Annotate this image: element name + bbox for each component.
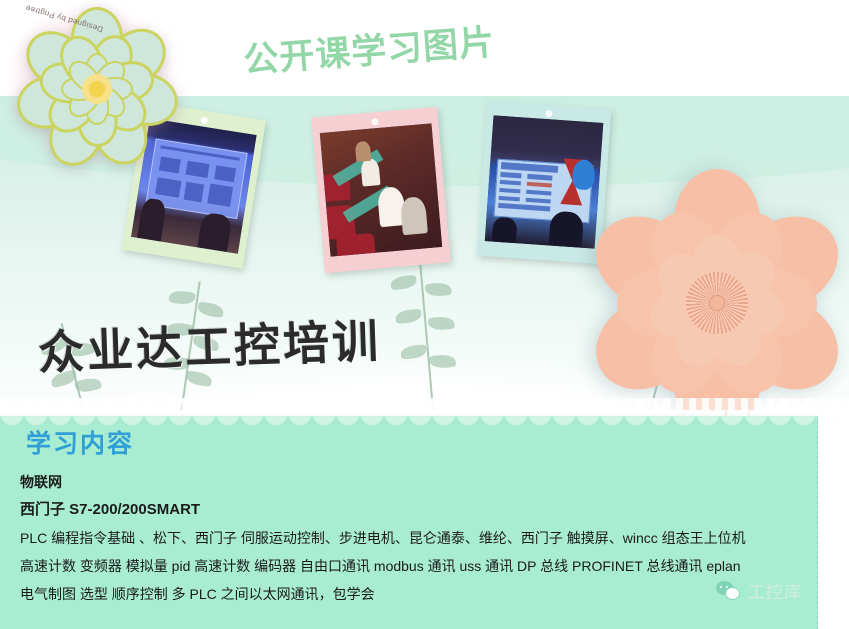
content-line: 西门子 S7-200/200SMART bbox=[20, 496, 810, 524]
content-line: 电气制图 选型 顺序控制 多 PLC 之间以太网通讯，包学会 bbox=[20, 580, 810, 608]
photo-pin-dot bbox=[371, 118, 379, 126]
wechat-account-badge[interactable]: 工控库 bbox=[716, 578, 802, 603]
flower-center-icon bbox=[686, 272, 748, 334]
content-line: 物联网 bbox=[20, 468, 810, 496]
content-line-list: 物联网 西门子 S7-200/200SMART PLC 编程指令基础 、松下、西… bbox=[20, 468, 810, 608]
wechat-icon bbox=[716, 581, 742, 601]
wechat-account-label: 工控库 bbox=[748, 578, 802, 603]
decorative-flower-peach bbox=[592, 178, 842, 428]
content-line: 高速计数 变频器 模拟量 pid 高速计数 编码器 自由口通讯 modbus 通… bbox=[20, 552, 810, 580]
photo-pin-dot bbox=[200, 116, 208, 124]
flower-center-icon bbox=[82, 74, 112, 104]
photo-auditorium-students[interactable] bbox=[311, 107, 450, 273]
section-title-learning-content: 学习内容 bbox=[26, 424, 134, 460]
content-line: PLC 编程指令基础 、松下、西门子 伺服运动控制、步进电机、昆仑通泰、维纶、西… bbox=[20, 524, 810, 552]
poster-root: Designed by Pngtree 公开课学习图片 众业达工控培训 bbox=[0, 0, 849, 629]
photo-image-area bbox=[320, 123, 442, 256]
photo-pin-dot bbox=[545, 110, 552, 117]
page-title-main: 众业达工控培训 bbox=[37, 305, 382, 383]
photo-image-area bbox=[485, 115, 604, 248]
